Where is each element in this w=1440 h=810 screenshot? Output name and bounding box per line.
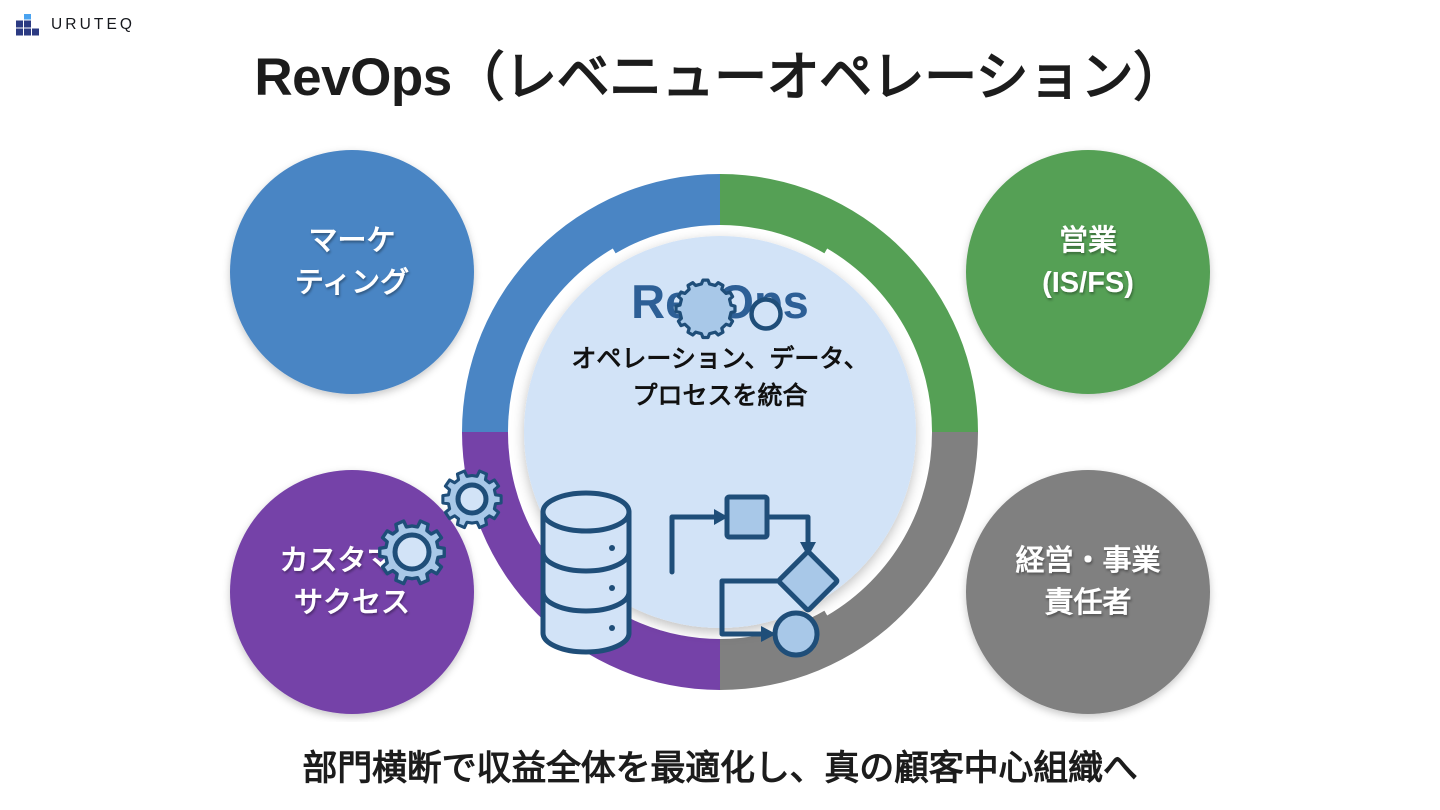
node-label-management-line2: 責任者 — [1044, 586, 1131, 619]
footer-caption: 部門横断で収益全体を最適化し、真の顧客中心組織へ — [0, 740, 1440, 791]
node-label-sales-line2: (IS/FS) — [1042, 267, 1134, 299]
node-circle-management[interactable]: 経営・事業 責任者 — [966, 470, 1210, 714]
gear-large-icon — [380, 521, 444, 584]
node-label-sales-line1: 営業 — [1059, 223, 1117, 257]
node-circle-marketing[interactable]: マーケ ティング — [230, 150, 474, 394]
gear-small-icon — [443, 471, 501, 528]
node-circle-sales[interactable]: 営業 (IS/FS) — [966, 150, 1210, 394]
brand-logo: URUTEQ — [16, 11, 135, 39]
node-label-marketing-line1: マーケ — [308, 225, 395, 257]
node-label-management-line1: 経営・事業 — [1015, 543, 1160, 577]
brand-name: URUTEQ — [51, 17, 135, 33]
slide-canvas: URUTEQ RevOps（レベニューオペレーション） マーケ ティング — [0, 0, 1440, 810]
page-title: RevOps（レベニューオペレーション） — [0, 48, 1440, 107]
node-label-customer-success-line2: サクセス — [294, 586, 410, 619]
database-icon — [543, 493, 629, 652]
center-subtitle-line1: オペレーション、データ、 — [571, 344, 868, 373]
node-label-marketing-line2: ティング — [295, 266, 409, 299]
blocks-logo-icon — [16, 14, 42, 36]
revops-diagram: マーケ ティング 営業 (IS/FS) カスタマー サクセス 経営・事業 責任者 — [200, 122, 1240, 722]
node-circle-customer-success[interactable]: カスタマー サクセス — [230, 470, 474, 714]
center-subtitle-line2: プロセスを統合 — [632, 381, 808, 410]
